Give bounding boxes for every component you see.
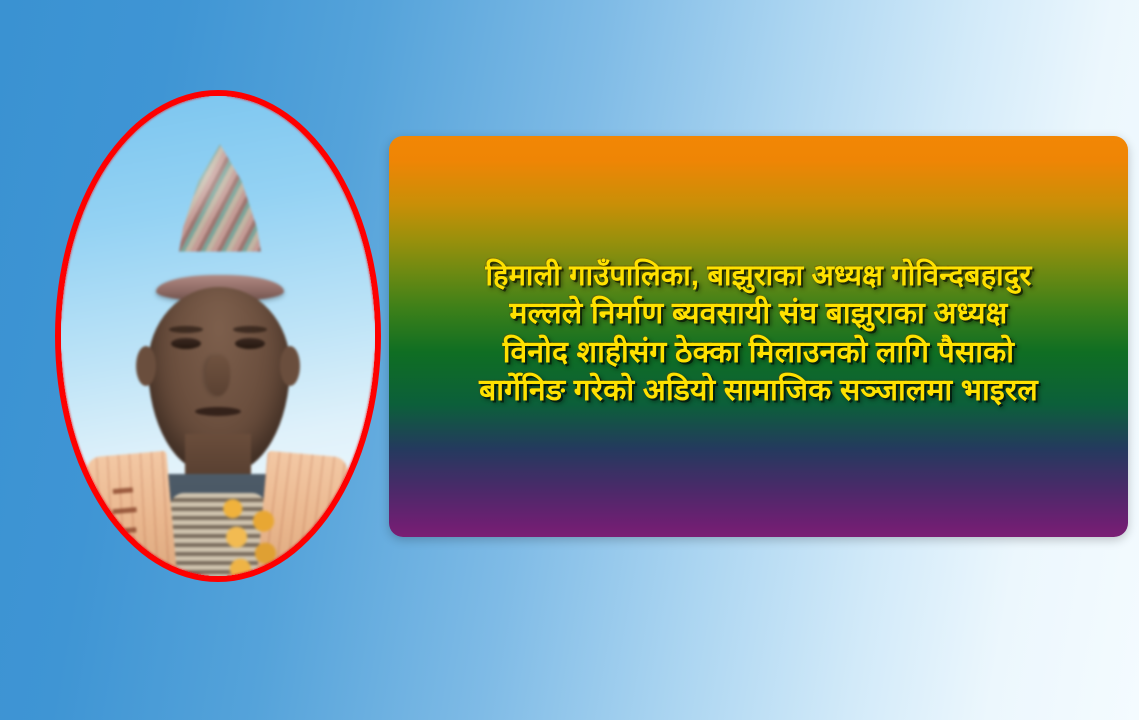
portrait-photo: [55, 90, 381, 582]
ear-left: [136, 346, 156, 386]
nose: [206, 356, 230, 396]
news-banner: हिमाली गाउँपालिका, बाझुराका अध्यक्ष गोवि…: [0, 0, 1139, 720]
portrait-oval-frame: [55, 90, 381, 582]
headline-line-4: बार्गेनिङ गरेको अडियो सामाजिक सञ्जालमा भ…: [397, 372, 1120, 410]
headline-line-2: मल्लले निर्माण ब्यवसायी संघ बाझुराका अध्…: [397, 295, 1120, 333]
marigold-garland: [204, 498, 300, 582]
dhaka-topi-icon: [166, 144, 274, 256]
ear-right: [280, 346, 300, 386]
headline-panel: हिमाली गाउँपालिका, बाझुराका अध्यक्ष गोवि…: [389, 136, 1128, 537]
headline-line-1: हिमाली गाउँपालिका, बाझुराका अध्यक्ष गोवि…: [397, 258, 1120, 295]
khada-scarf-script: [106, 482, 147, 569]
headline-line-3: विनोद शाहीसंग ठेक्का मिलाउनको लागि पैसाक…: [397, 334, 1120, 372]
